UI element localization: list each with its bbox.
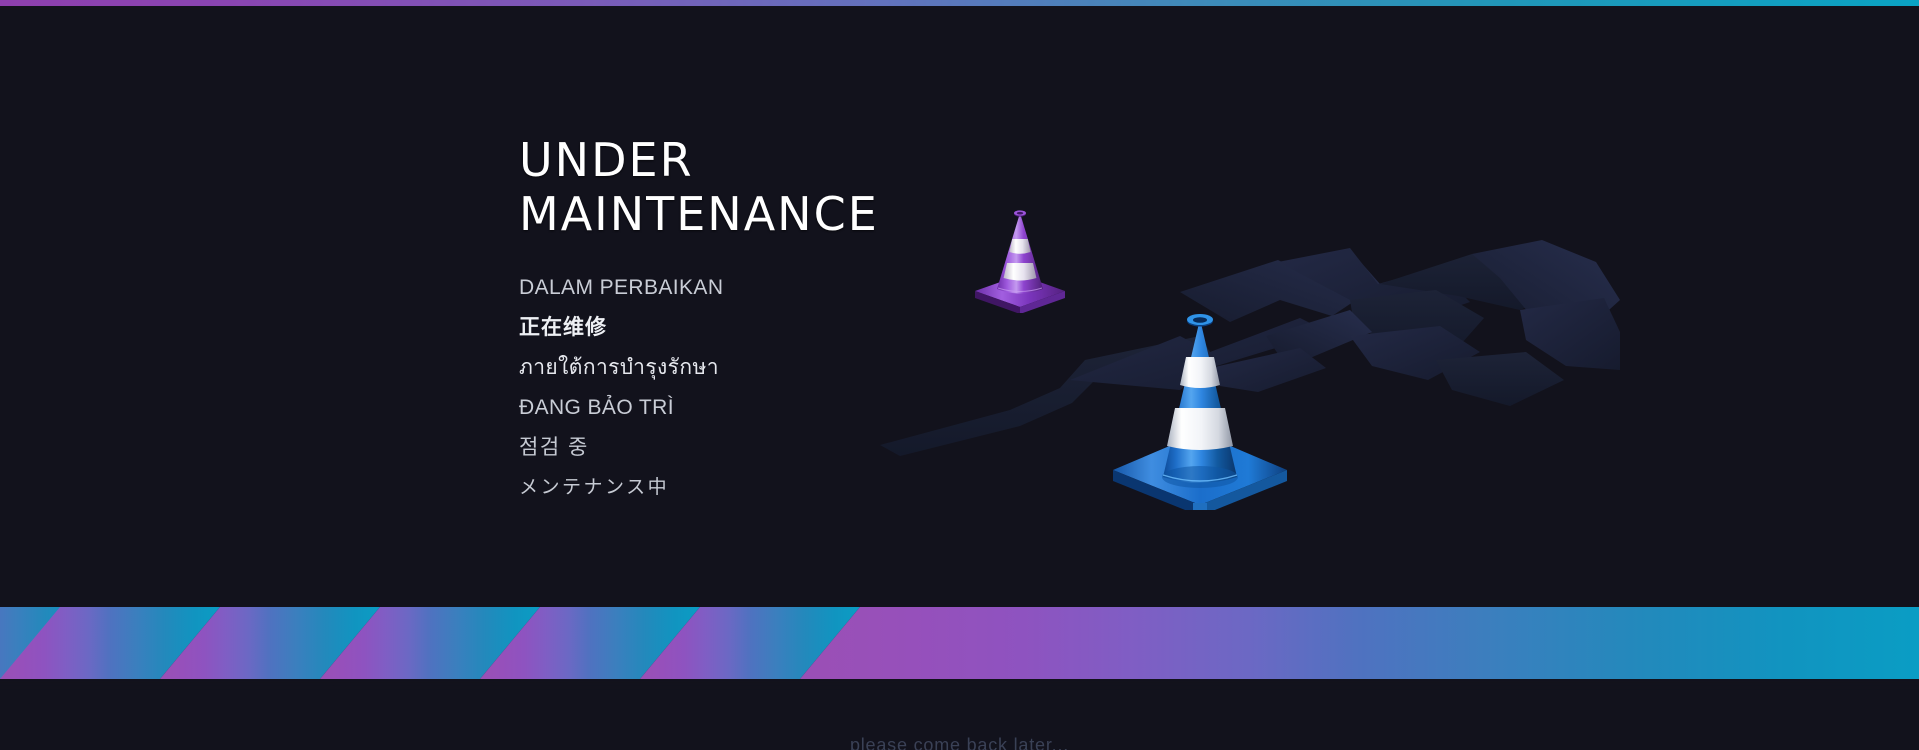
maintenance-page: UNDER MAINTENANCE DALAM PERBAIKAN 正在维修 ภ…	[0, 0, 1919, 750]
translation-ko: 점검 중	[519, 428, 1139, 468]
translation-ja: メンテナンス中	[519, 468, 1139, 508]
footer-note: please come back later...	[0, 735, 1919, 750]
hazard-stripe-band	[0, 607, 1919, 679]
translation-th: ภายใต้การบำรุงรักษา	[519, 348, 1139, 388]
footer-note-text: please come back later...	[850, 735, 1069, 750]
translation-id: DALAM PERBAIKAN	[519, 268, 1139, 308]
translation-vi: ĐANG BẢO TRÌ	[519, 388, 1139, 428]
top-gradient-bar	[0, 0, 1919, 6]
page-title: UNDER MAINTENANCE	[519, 133, 1279, 241]
band-reflection	[0, 679, 1919, 741]
translation-zh: 正在维修	[519, 308, 1139, 348]
translation-list: DALAM PERBAIKAN 正在维修 ภายใต้การบำรุงรักษา…	[519, 268, 1139, 508]
